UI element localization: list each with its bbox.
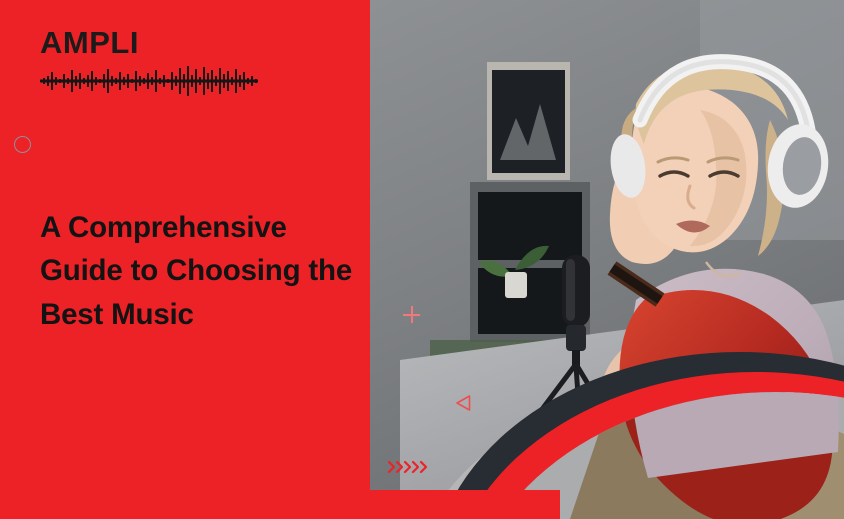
grid-dot — [134, 449, 140, 455]
grid-dot — [74, 475, 80, 481]
grid-dot — [44, 475, 50, 481]
grid-dot — [44, 436, 50, 442]
grid-dot — [104, 462, 110, 468]
page-title: A Comprehensive Guide to Choosing the Be… — [40, 206, 410, 381]
headline-line-4-accent: Management Software — [40, 342, 349, 375]
grid-dot — [59, 462, 65, 468]
audio-waveform-icon — [40, 66, 258, 96]
grid-dot — [149, 449, 155, 455]
brand-logo[interactable]: AMPLITEACH — [40, 27, 265, 96]
grid-dot — [89, 449, 95, 455]
grid-dot — [119, 449, 125, 455]
grid-dot — [119, 462, 125, 468]
grid-dot — [119, 436, 125, 442]
grid-dot — [104, 436, 110, 442]
hero-banner: AMPLITEACH — [0, 0, 844, 519]
headline-line-2: Guide to Choosing the — [40, 254, 352, 287]
triangle-left-icon — [454, 394, 472, 412]
grid-dot — [59, 475, 65, 481]
grid-dot — [74, 449, 80, 455]
grid-dot — [149, 462, 155, 468]
plus-icon — [403, 306, 420, 323]
bottom-red-bar — [0, 490, 560, 519]
grid-dot — [59, 449, 65, 455]
grid-dot — [74, 436, 80, 442]
grid-dot — [104, 449, 110, 455]
grid-dot — [149, 436, 155, 442]
grid-dot — [104, 475, 110, 481]
grid-dot — [119, 475, 125, 481]
headline-line-1: A Comprehensive — [40, 211, 287, 244]
logo-text-teach: TEACH — [139, 25, 248, 60]
grid-dot — [134, 436, 140, 442]
grid-dot — [89, 475, 95, 481]
logo-text-ampli: AMPLI — [40, 25, 139, 60]
grid-dot — [44, 449, 50, 455]
grid-dot — [149, 475, 155, 481]
circle-outline-icon — [14, 136, 31, 153]
grid-dot — [89, 462, 95, 468]
grid-dot — [134, 462, 140, 468]
headline-line-3-plain: Best Music — [40, 298, 202, 331]
grid-dot — [74, 462, 80, 468]
grid-dot — [89, 436, 95, 442]
headline-line-3-accent: School — [202, 298, 299, 331]
dot-grid-decoration — [44, 436, 164, 488]
logo-wordmark: AMPLITEACH — [40, 27, 265, 58]
chevrons-right-icon — [387, 459, 429, 475]
grid-dot — [59, 436, 65, 442]
grid-dot — [134, 475, 140, 481]
grid-dot — [44, 462, 50, 468]
